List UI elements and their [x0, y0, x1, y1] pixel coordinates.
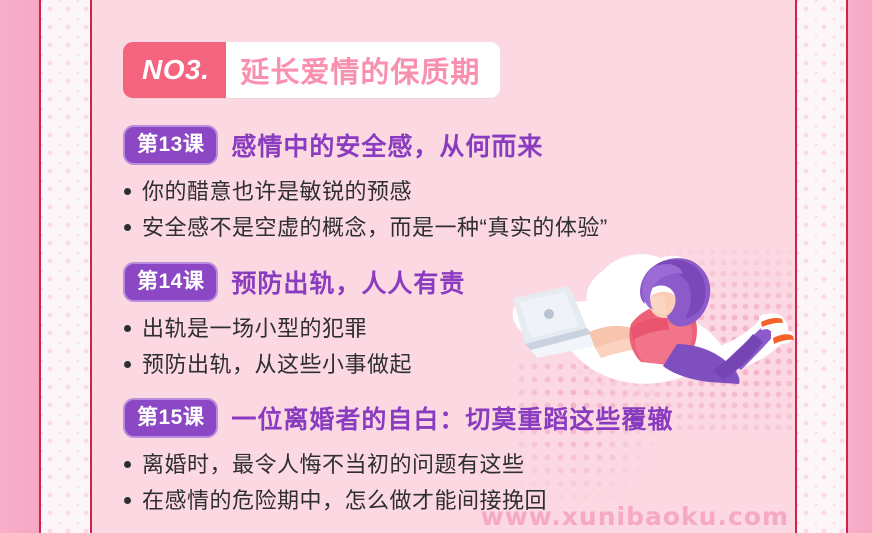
lesson-14-title: 预防出轨，人人有责 [231, 264, 465, 300]
lesson-14-bullet-list: 出轨是一场小型的犯罪 预防出轨，从这些小事做起 [123, 311, 785, 382]
left-solid-border-band [0, 0, 39, 533]
lesson-14-badge: 第14课 [123, 262, 218, 302]
lesson-block-13: 第13课 感情中的安全感，从何而来 你的醋意也许是敏锐的预感 安全感不是空虚的概… [123, 125, 785, 245]
lesson-13-badge: 第13课 [123, 125, 218, 165]
lesson-13-heading: 第13课 感情中的安全感，从何而来 [123, 125, 785, 165]
list-item: 你的醋意也许是敏锐的预感 [123, 174, 785, 210]
lesson-14-heading: 第14课 预防出轨，人人有责 [123, 262, 785, 302]
site-watermark: www.xunibaoku.com [481, 502, 789, 531]
section-number-badge: NO3. [123, 42, 226, 98]
list-item: 出轨是一场小型的犯罪 [123, 311, 785, 347]
right-solid-border-band [848, 0, 872, 533]
list-item: 预防出轨，从这些小事做起 [123, 347, 785, 383]
content-panel: NO3. 延长爱情的保质期 [92, 0, 795, 533]
right-patterned-border-band [795, 0, 848, 533]
course-outline-card: NO3. 延长爱情的保质期 [0, 0, 872, 533]
lesson-block-14: 第14课 预防出轨，人人有责 出轨是一场小型的犯罪 预防出轨，从这些小事做起 [123, 262, 785, 382]
list-item: 离婚时，最令人悔不当初的问题有这些 [123, 447, 785, 483]
list-item: 安全感不是空虚的概念，而是一种“真实的体验” [123, 210, 785, 246]
lesson-15-badge: 第15课 [123, 398, 218, 438]
lesson-15-heading: 第15课 一位离婚者的自白：切莫重蹈这些覆辙 [123, 398, 785, 438]
lesson-block-15: 第15课 一位离婚者的自白：切莫重蹈这些覆辙 离婚时，最令人悔不当初的问题有这些… [123, 398, 785, 518]
left-patterned-border-band [39, 0, 92, 533]
lesson-13-title: 感情中的安全感，从何而来 [231, 127, 543, 163]
lesson-13-bullet-list: 你的醋意也许是敏锐的预感 安全感不是空虚的概念，而是一种“真实的体验” [123, 174, 785, 245]
section-title: 延长爱情的保质期 [226, 42, 500, 98]
section-header: NO3. 延长爱情的保质期 [123, 42, 500, 98]
lesson-15-title: 一位离婚者的自白：切莫重蹈这些覆辙 [231, 400, 673, 436]
